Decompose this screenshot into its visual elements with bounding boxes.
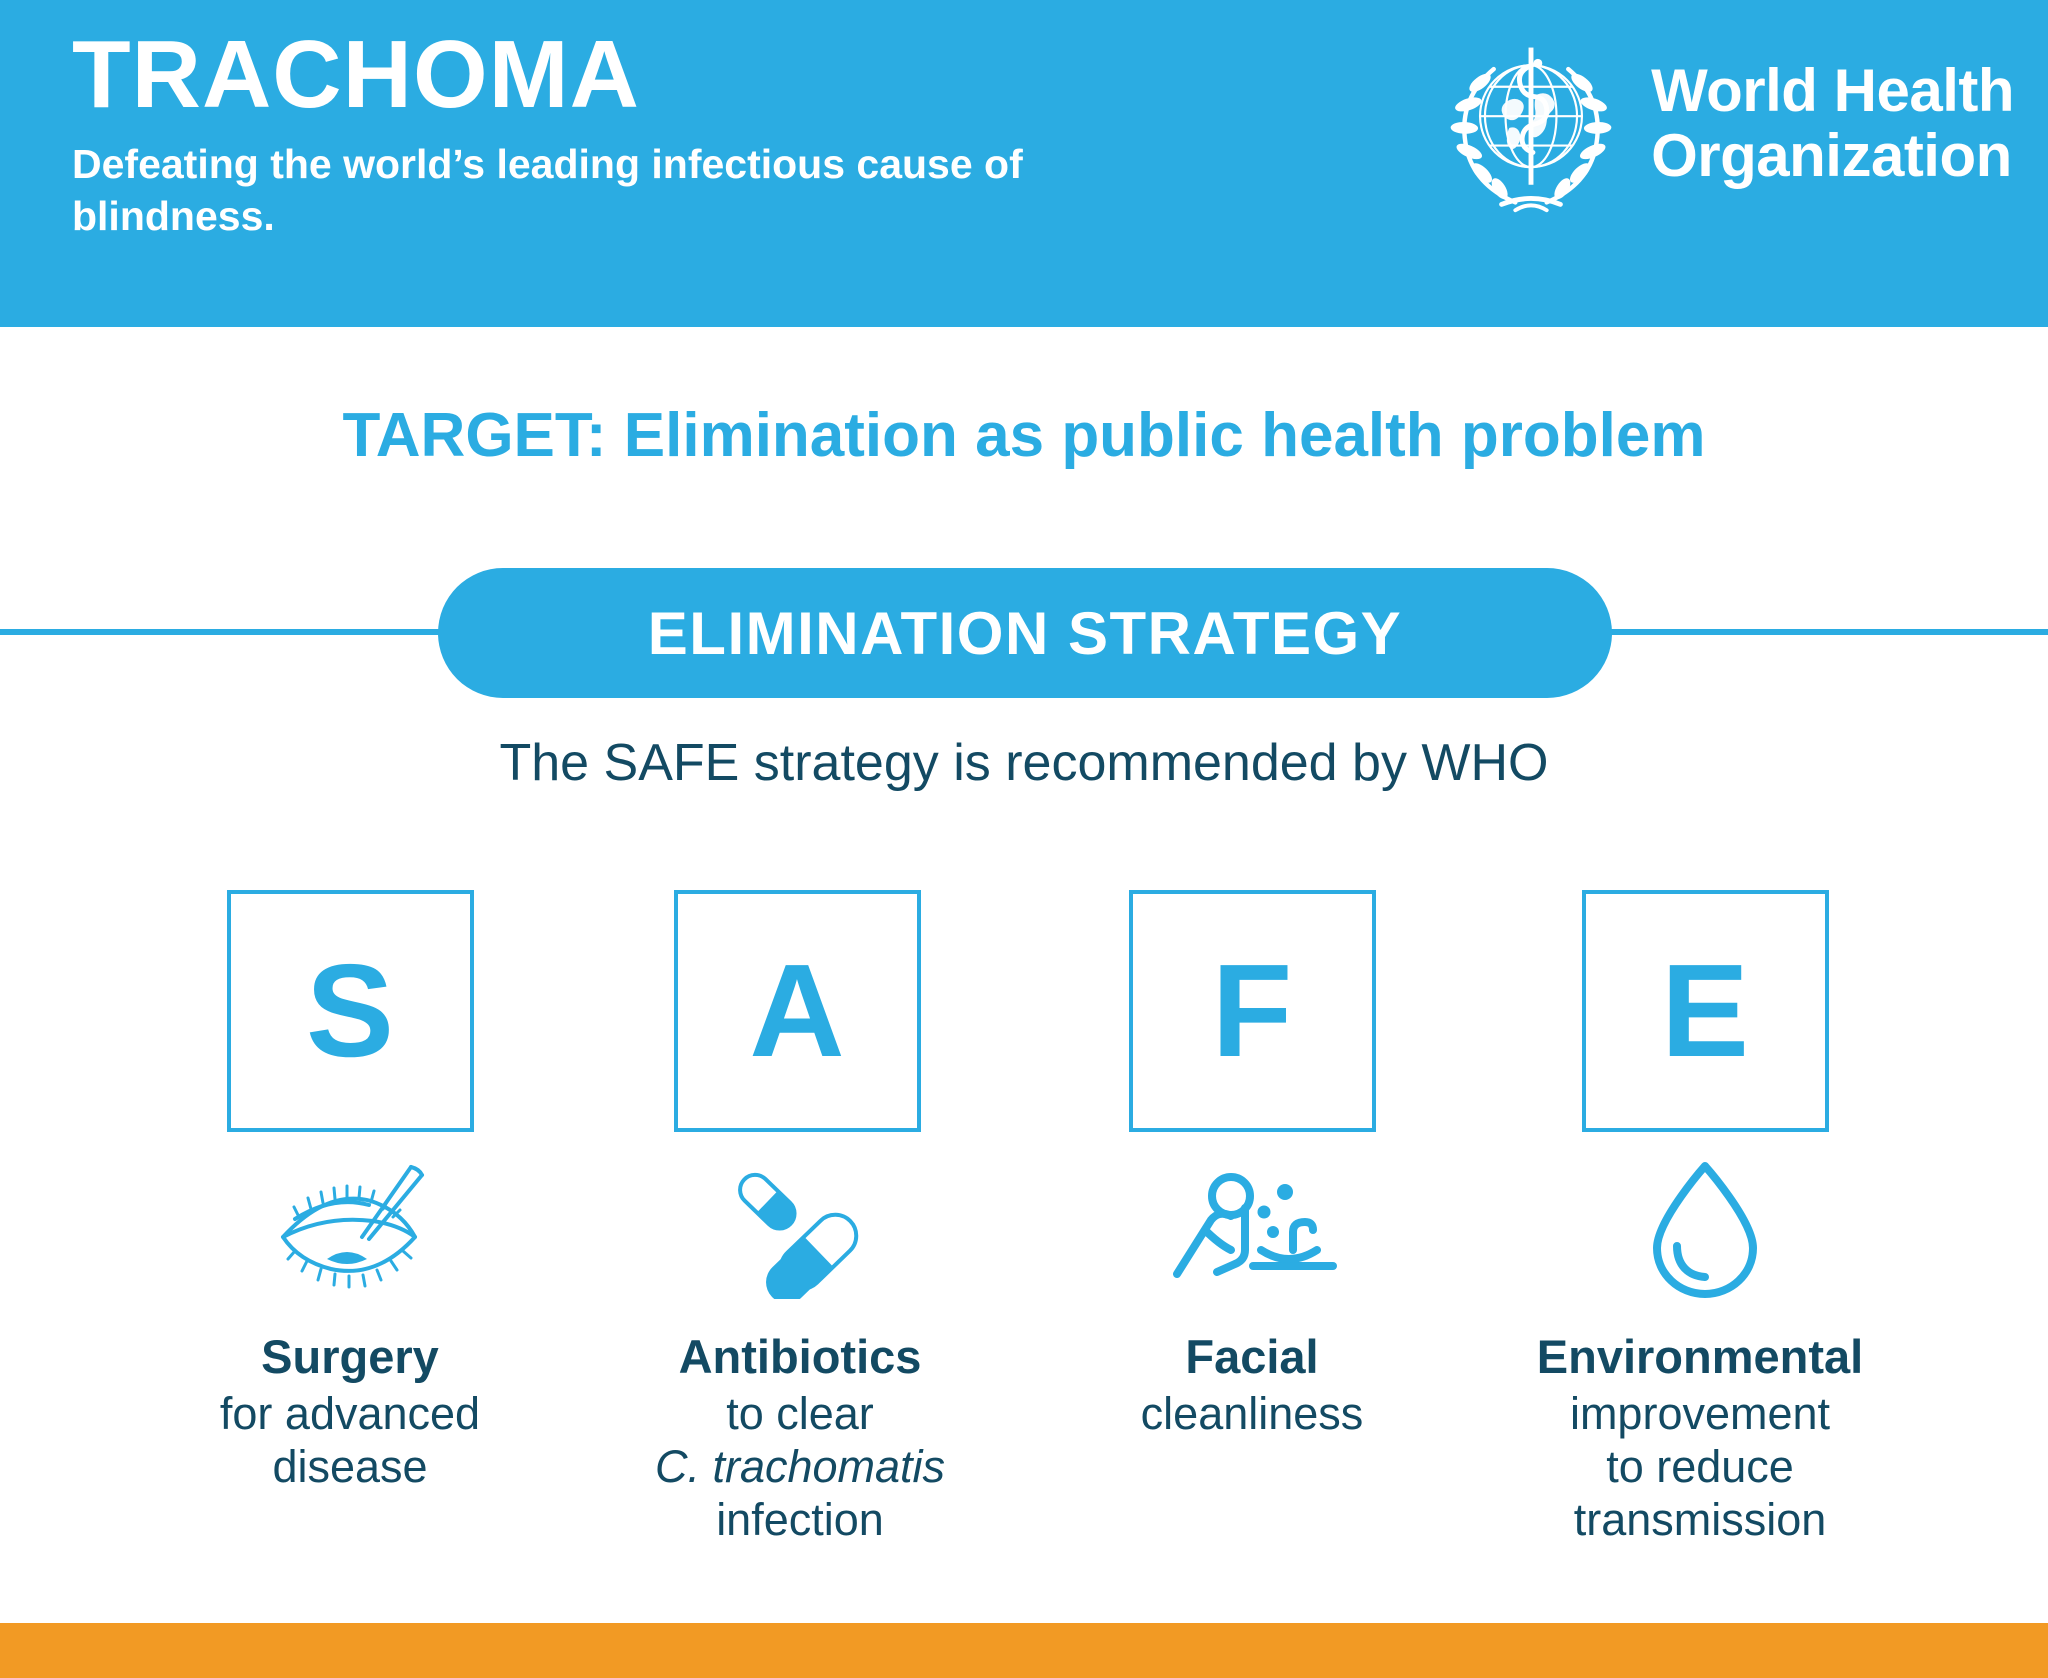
icon-wrap-surgery [265, 1154, 435, 1304]
safe-column-antibiotics: A [632, 890, 962, 1304]
target-statement: TARGET: Elimination as public health pro… [0, 400, 2048, 471]
caption-line: cleanliness [1042, 1387, 1462, 1440]
caption-line: improvement [1490, 1387, 1910, 1440]
strategy-intro: The SAFE strategy is recommended by WHO [0, 733, 2048, 793]
caption-line-italic: C. trachomatis [590, 1440, 1010, 1493]
pill-capsules-icon [722, 1159, 872, 1299]
caption-line: to clear [590, 1387, 1010, 1440]
caption-line: disease [140, 1440, 560, 1493]
letter-glyph-a: A [749, 945, 844, 1077]
caption-line: transmission [1490, 1493, 1910, 1546]
letter-box-e: E [1582, 890, 1829, 1132]
letter-glyph-f: F [1212, 945, 1293, 1077]
letter-box-a: A [674, 890, 921, 1132]
trachoma-infographic: TRACHOMA Defeating the world’s leading i… [0, 0, 2048, 1678]
letter-glyph-e: E [1661, 945, 1749, 1077]
page-title: TRACHOMA [72, 26, 1272, 124]
who-emblem-icon [1433, 26, 1629, 222]
safe-column-environmental: E [1540, 890, 1870, 1304]
icon-wrap-antibiotics [722, 1154, 872, 1304]
caption-line: to reduce [1490, 1440, 1910, 1493]
safe-column-facial: F [1087, 890, 1417, 1304]
caption-body-antibiotics: to clear C. trachomatis infection [590, 1387, 1010, 1546]
page-subtitle: Defeating the world’s leading infectious… [72, 138, 1132, 243]
caption-line: infection [590, 1493, 1010, 1546]
banner-label: ELIMINATION STRATEGY [648, 599, 1402, 668]
caption-antibiotics: Antibiotics to clear C. trachomatis infe… [590, 1330, 1010, 1546]
footer-accent-bar [0, 1623, 2048, 1678]
caption-surgery: Surgery for advanced disease [140, 1330, 560, 1493]
safe-column-surgery: S [185, 890, 515, 1304]
caption-environmental: Environmental improvement to reduce tran… [1490, 1330, 1910, 1546]
safe-captions: Surgery for advanced disease Antibiotics… [0, 1330, 2048, 1610]
caption-line: for advanced [140, 1387, 560, 1440]
caption-head-facial: Facial [1042, 1330, 1462, 1385]
letter-box-f: F [1129, 890, 1376, 1132]
caption-head-environmental: Environmental [1490, 1330, 1910, 1385]
who-logo: World Health Organization [1433, 26, 2014, 222]
letter-glyph-s: S [306, 945, 394, 1077]
caption-head-surgery: Surgery [140, 1330, 560, 1385]
letter-box-s: S [227, 890, 474, 1132]
icon-wrap-facial [1165, 1154, 1340, 1304]
caption-head-antibiotics: Antibiotics [590, 1330, 1010, 1385]
eye-surgery-forceps-icon [265, 1159, 435, 1299]
caption-facial: Facial cleanliness [1042, 1330, 1462, 1440]
water-droplet-icon [1645, 1154, 1765, 1304]
caption-body-facial: cleanliness [1042, 1387, 1462, 1440]
caption-body-environmental: improvement to reduce transmission [1490, 1387, 1910, 1546]
header-band: TRACHOMA Defeating the world’s leading i… [0, 0, 2048, 327]
who-wordmark-line1: World Health [1651, 59, 2014, 124]
who-wordmark: World Health Organization [1651, 59, 2014, 189]
who-wordmark-line2: Organization [1651, 124, 2014, 189]
icon-wrap-environmental [1645, 1154, 1765, 1304]
elimination-strategy-banner: ELIMINATION STRATEGY [438, 568, 1612, 698]
face-washing-basin-icon [1165, 1164, 1340, 1294]
caption-body-surgery: for advanced disease [140, 1387, 560, 1493]
header-text-block: TRACHOMA Defeating the world’s leading i… [72, 26, 1272, 243]
